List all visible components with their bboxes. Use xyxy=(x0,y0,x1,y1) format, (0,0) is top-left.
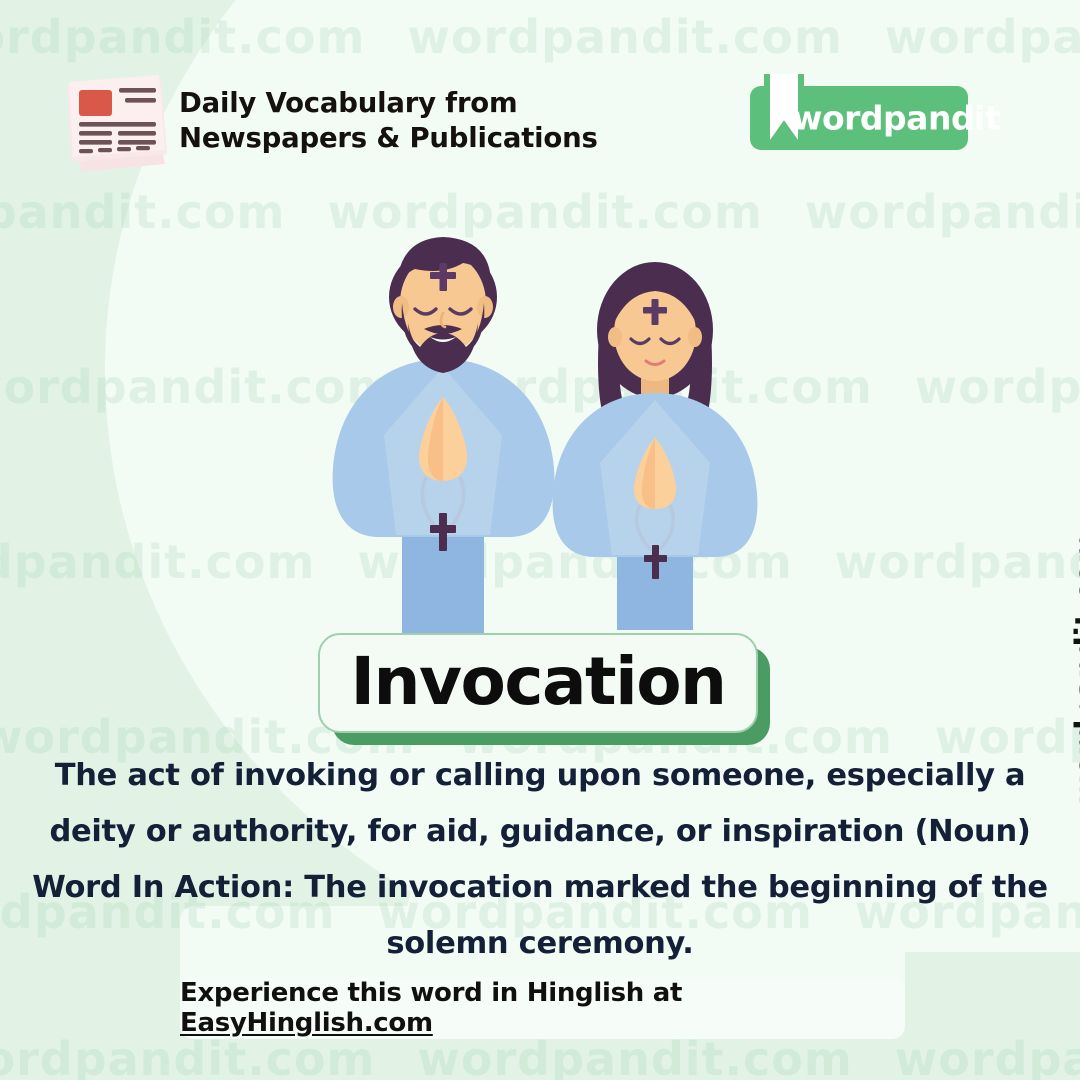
headword-badge-body: Invocation xyxy=(318,633,758,733)
word-in-action: Word In Action: The invocation marked th… xyxy=(20,860,1060,973)
poster-header: Daily Vocabulary from Newspapers & Publi… xyxy=(0,0,1080,190)
footer-text: Experience this word in Hinglish at Easy… xyxy=(180,978,905,1038)
easyhinglish-link[interactable]: EasyHinglish.com xyxy=(180,1008,433,1038)
vocabulary-poster: wordpandit.comwordpandit.comwordpandit.c… xyxy=(0,0,1080,1080)
newspaper-icon xyxy=(57,72,175,172)
two-people-praying-illustration xyxy=(300,225,800,655)
page-title: Daily Vocabulary from Newspapers & Publi… xyxy=(179,86,598,155)
wordpandit-logo[interactable]: wordpandit xyxy=(750,86,968,150)
man-praying-figure xyxy=(333,237,555,636)
footer-prefix: Experience this word in Hinglish at xyxy=(180,978,682,1008)
footer-banner[interactable]: Experience this word in Hinglish at Easy… xyxy=(180,977,905,1039)
woman-praying-figure xyxy=(553,262,758,630)
logo-label: wordpandit xyxy=(792,99,1000,138)
headword-text: Invocation xyxy=(350,649,725,715)
vertical-site-url: wordpandit.com xyxy=(1070,533,1080,804)
word-definition: The act of invoking or calling upon some… xyxy=(20,748,1060,861)
headword-badge: Invocation xyxy=(318,633,770,745)
